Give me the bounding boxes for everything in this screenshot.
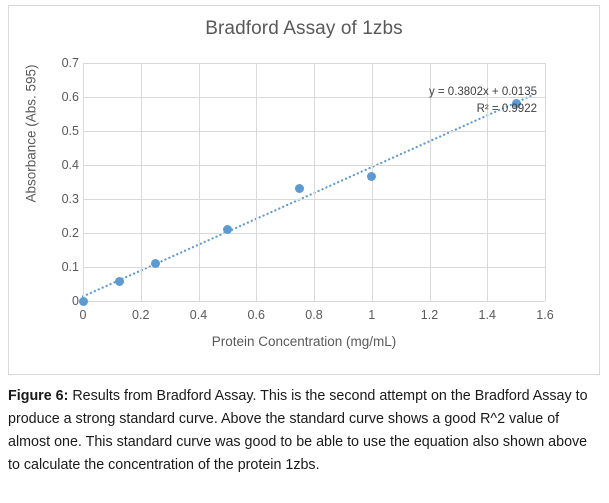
x-axis-title: Protein Concentration (mg/mL) <box>9 334 599 349</box>
gridline-vertical <box>199 63 200 301</box>
r-squared-text: R² = 0.9922 <box>429 101 537 118</box>
x-tick-label: 1.6 <box>525 308 565 322</box>
gridline-vertical <box>372 63 373 301</box>
figure-caption-label: Figure 6: <box>8 388 68 404</box>
gridline-horizontal <box>83 301 545 302</box>
data-point <box>79 297 88 306</box>
gridline-vertical <box>83 63 84 301</box>
chart-title: Bradford Assay of 1zbs <box>9 18 599 40</box>
y-tick-label: 0 <box>43 294 79 308</box>
trendline-equation-annotation: y = 0.3802x + 0.0135 R² = 0.9922 <box>429 84 537 117</box>
x-tick-label: 1.2 <box>410 308 450 322</box>
gridline-vertical <box>141 63 142 301</box>
y-tick-label: 0.3 <box>43 192 79 206</box>
data-point <box>151 259 160 268</box>
y-tick-label: 0.2 <box>43 226 79 240</box>
y-tick-label: 0.7 <box>43 56 79 70</box>
figure-chart-box: Bradford Assay of 1zbs Absorbance (Abs. … <box>8 5 600 375</box>
gridline-vertical <box>545 63 546 301</box>
figure-caption: Figure 6: Results from Bradford Assay. T… <box>8 385 588 478</box>
y-tick-label: 0.1 <box>43 260 79 274</box>
y-axis-tick-labels: 00.10.20.30.40.50.60.7 <box>35 63 79 301</box>
x-tick-label: 0.4 <box>179 308 219 322</box>
y-tick-label: 0.6 <box>43 90 79 104</box>
x-tick-label: 0.2 <box>121 308 161 322</box>
data-point <box>223 225 232 234</box>
gridline-vertical <box>314 63 315 301</box>
data-point <box>367 172 376 181</box>
x-tick-label: 0 <box>63 308 103 322</box>
x-tick-label: 1 <box>352 308 392 322</box>
x-axis-tick-labels: 00.20.40.60.811.21.41.6 <box>83 308 545 328</box>
y-tick-label: 0.4 <box>43 158 79 172</box>
x-tick-label: 0.8 <box>294 308 334 322</box>
x-tick-label: 0.6 <box>236 308 276 322</box>
x-tick-label: 1.4 <box>467 308 507 322</box>
figure-caption-body: Results from Bradford Assay. This is the… <box>8 388 588 473</box>
y-tick-label: 0.5 <box>43 124 79 138</box>
equation-text: y = 0.3802x + 0.0135 <box>429 84 537 101</box>
gridline-vertical <box>256 63 257 301</box>
